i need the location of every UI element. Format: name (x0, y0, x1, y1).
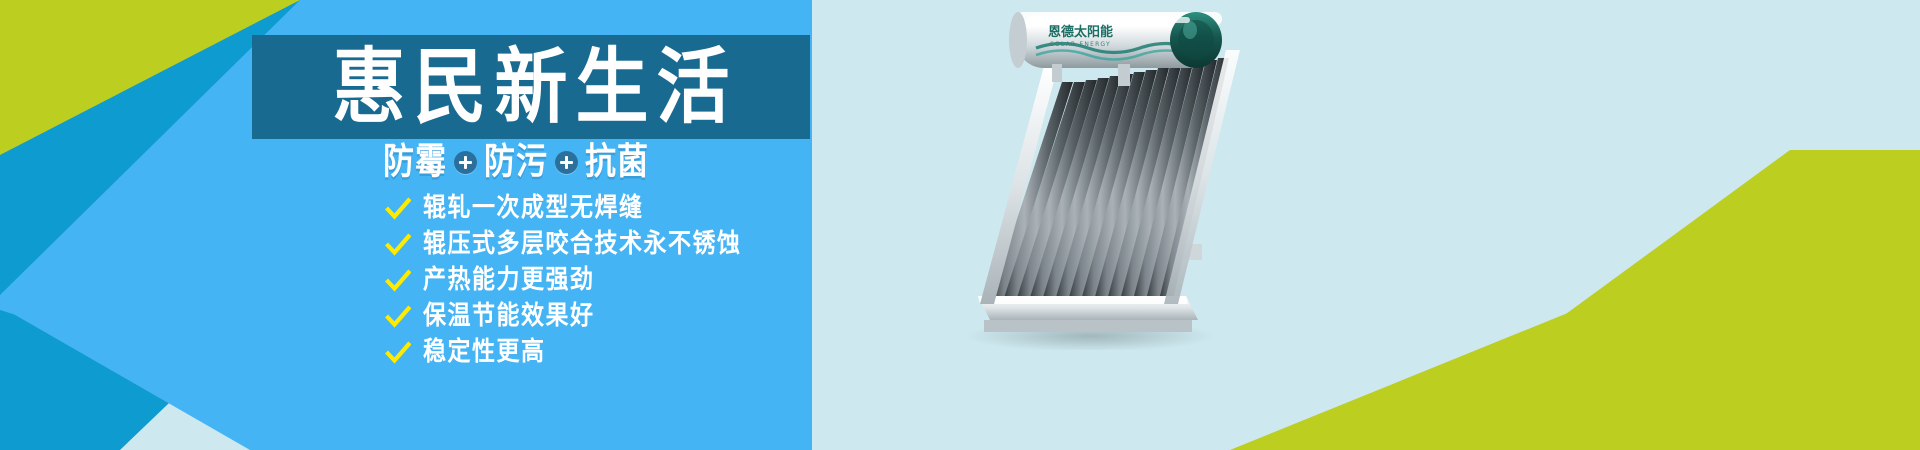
feature-label: 辊轧一次成型无焊缝 (423, 195, 644, 221)
headline-bar: 惠民新生活 (252, 35, 810, 139)
page-title: 惠民新生活 (325, 46, 738, 128)
subtitle-word-2: 防污 (484, 144, 548, 181)
check-icon (385, 268, 411, 294)
tank-brand-sublabel: SOLAR ENERGY (1050, 41, 1111, 48)
promo-banner: 惠民新生活 防霉 防污 抗菌 辊轧一次成型无焊缝 辊压式多层咬合技术永不锈蚀 (0, 0, 1920, 450)
plus-badge-icon (454, 151, 477, 174)
feature-list: 辊轧一次成型无焊缝 辊压式多层咬合技术永不锈蚀 产热能力更强劲 (385, 192, 742, 369)
storage-tank: 恩德太阳能 SOLAR ENERGY (1009, 12, 1222, 68)
subtitle-word-3: 抗菌 (585, 144, 649, 181)
feature-label: 保温节能效果好 (423, 303, 595, 329)
check-icon (385, 340, 411, 366)
feature-label: 稳定性更高 (423, 339, 546, 365)
list-item: 辊压式多层咬合技术永不锈蚀 (385, 228, 742, 261)
list-item: 辊轧一次成型无焊缝 (385, 192, 742, 225)
list-item: 保温节能效果好 (385, 300, 742, 333)
check-icon (385, 196, 411, 222)
subtitle-row: 防霉 防污 抗菌 (383, 143, 649, 181)
plus-badge-icon (555, 151, 578, 174)
check-icon (385, 304, 411, 330)
subtitle-word-1: 防霉 (383, 144, 447, 181)
tank-brand-label: 恩德太阳能 (1048, 24, 1113, 40)
list-item: 稳定性更高 (385, 336, 742, 369)
feature-label: 产热能力更强劲 (423, 267, 595, 293)
check-icon (385, 232, 411, 258)
feature-label: 辊压式多层咬合技术永不锈蚀 (423, 231, 742, 257)
solar-water-heater-image: 恩德太阳能 SOLAR ENERGY (940, 4, 1270, 350)
list-item: 产热能力更强劲 (385, 264, 742, 297)
